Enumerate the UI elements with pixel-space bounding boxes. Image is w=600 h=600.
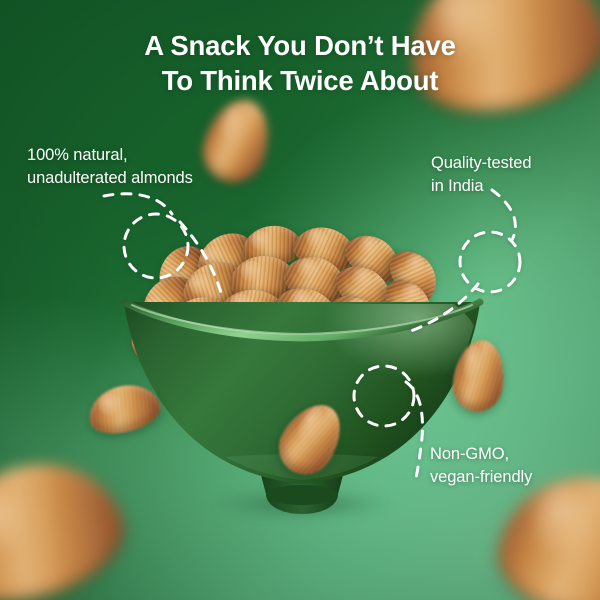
feature-label-non-gmo: Non-GMO, vegan-friendly bbox=[430, 443, 532, 490]
almond-floating-top-center bbox=[195, 91, 280, 190]
feature-label-quality-tested: Quality-tested in India bbox=[431, 152, 531, 199]
title-line-2: To Think Twice About bbox=[0, 63, 600, 98]
almond-on-bowl-front bbox=[268, 393, 353, 484]
almond-product-poster: A Snack You Don’t Have To Think Twice Ab… bbox=[0, 0, 600, 600]
title-line-1: A Snack You Don’t Have bbox=[144, 30, 455, 61]
page-title: A Snack You Don’t Have To Think Twice Ab… bbox=[0, 28, 600, 98]
feature-label-natural: 100% natural, unadulterated almonds bbox=[27, 144, 193, 191]
